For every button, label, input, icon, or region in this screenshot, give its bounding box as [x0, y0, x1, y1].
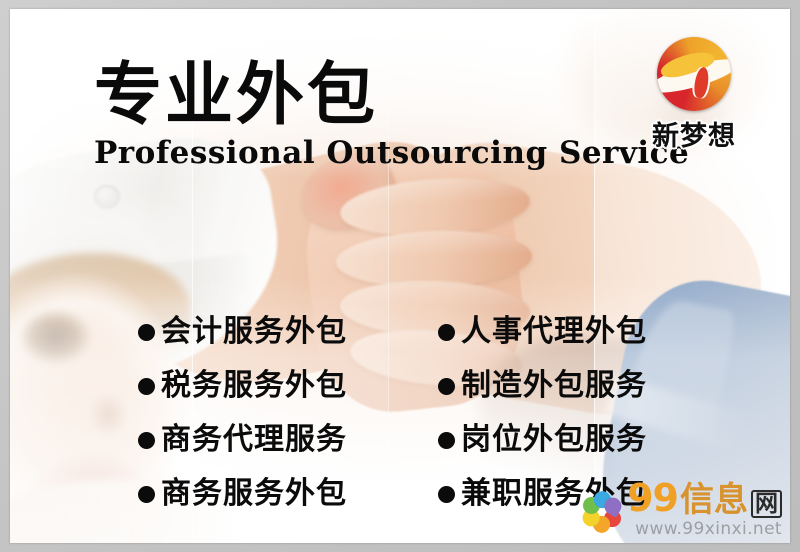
service-label: 税务服务外包: [161, 371, 347, 401]
list-item: 商务代理服务: [138, 413, 438, 467]
watermark-text-block: 99 信息 网 www.99xinxi.net: [627, 479, 782, 539]
new-dream-emblem-icon: [657, 37, 731, 111]
service-label: 商务服务外包: [161, 479, 347, 509]
service-label: 岗位外包服务: [461, 425, 647, 455]
watermark-title: 99 信息 网: [627, 479, 782, 518]
list-item: 商务服务外包: [138, 467, 438, 521]
poster-canvas: 专业外包 Professional Outsourcing Service 新梦…: [10, 9, 790, 543]
watermark-url: www.99xinxi.net: [627, 519, 782, 539]
service-label: 会计服务外包: [161, 317, 347, 347]
bullet-icon: [138, 486, 155, 503]
service-list-left: 会计服务外包 税务服务外包 商务代理服务 商务服务外包: [138, 305, 438, 521]
bullet-icon: [138, 432, 155, 449]
site-watermark: 99 信息 网 www.99xinxi.net: [581, 479, 782, 539]
shirt-button: [94, 185, 120, 209]
flower-logo-icon: [581, 491, 623, 533]
service-label: 商务代理服务: [161, 425, 347, 455]
brand-name: 新梦想: [630, 114, 758, 153]
page-title-en: Professional Outsourcing Service: [94, 135, 689, 171]
brand-logo: 新梦想: [630, 37, 758, 153]
bullet-icon: [138, 378, 155, 395]
headline-block: 专业外包 Professional Outsourcing Service: [94, 61, 689, 171]
watermark-digits: 99: [627, 479, 678, 517]
list-item: 岗位外包服务: [438, 413, 738, 467]
bullet-icon: [138, 324, 155, 341]
service-label: 制造外包服务: [461, 371, 647, 401]
watermark-name: 信息: [680, 483, 748, 517]
poster: 专业外包 Professional Outsourcing Service 新梦…: [0, 0, 800, 552]
list-item: 制造外包服务: [438, 359, 738, 413]
page-title-cn: 专业外包: [94, 61, 689, 129]
service-label: 人事代理外包: [461, 317, 647, 347]
bullet-icon: [438, 432, 455, 449]
list-item: 人事代理外包: [438, 305, 738, 359]
watermark-boxed-char: 网: [751, 490, 782, 518]
list-item: 税务服务外包: [138, 359, 438, 413]
bullet-icon: [438, 378, 455, 395]
handshake-finger: [335, 228, 533, 291]
bullet-icon: [438, 486, 455, 503]
handshake-finger: [338, 172, 531, 241]
bullet-icon: [438, 324, 455, 341]
list-item: 会计服务外包: [138, 305, 438, 359]
